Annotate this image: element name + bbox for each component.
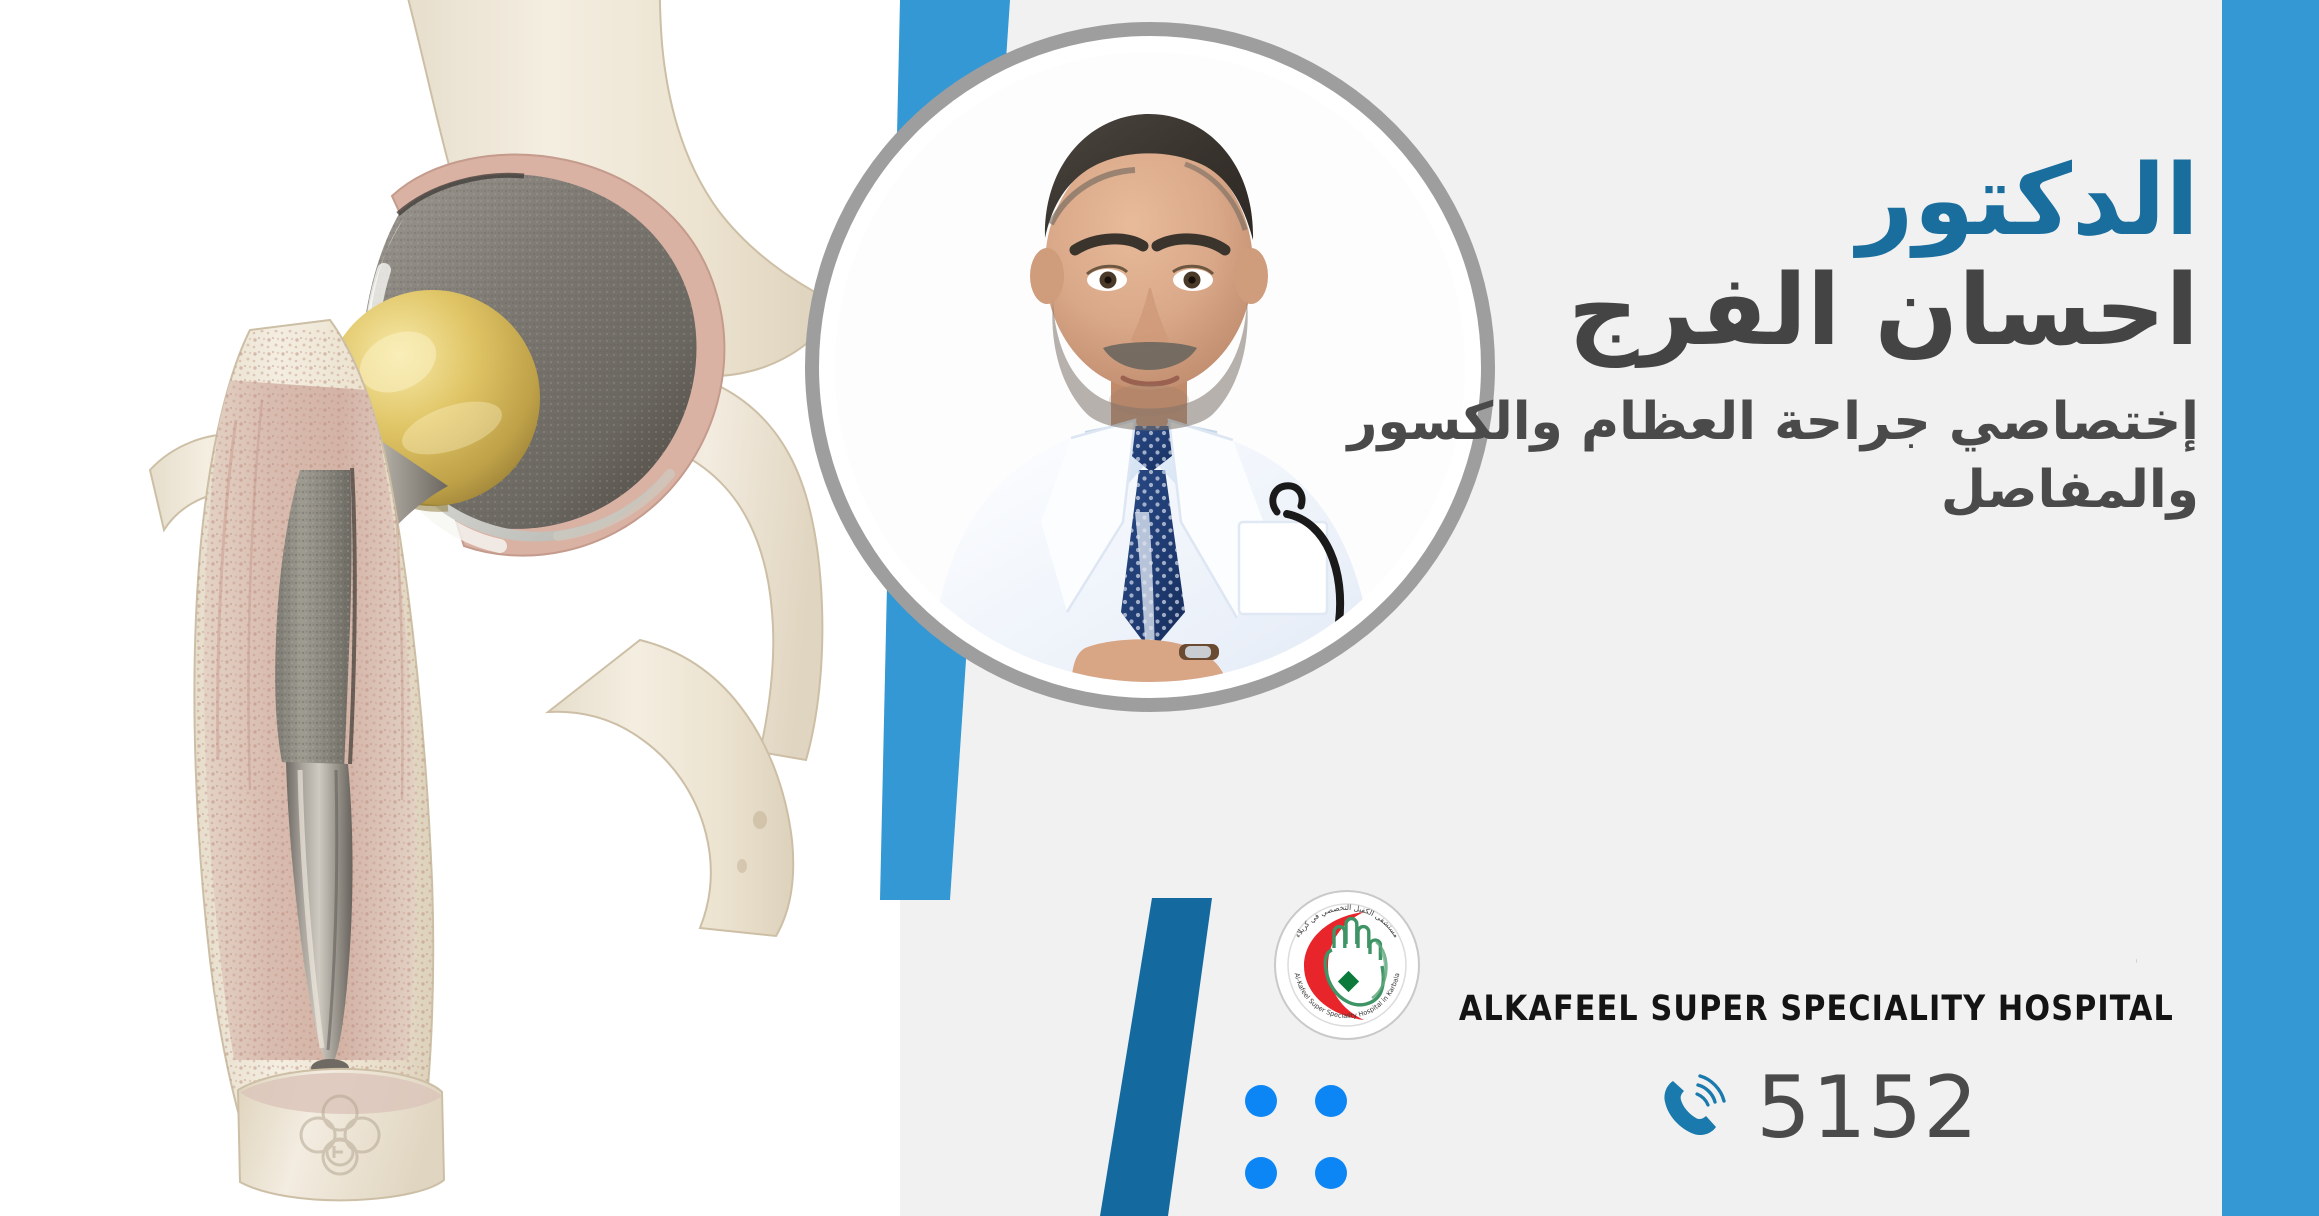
poster-canvas: الدكتور احسان الفرج إختصاصي جراحة العظام… bbox=[0, 0, 2319, 1216]
page-title: الدكتور bbox=[1199, 150, 2199, 253]
phone-number[interactable]: 5152 bbox=[1756, 1065, 1979, 1151]
contact-phone[interactable]: 5152 bbox=[1656, 1065, 1979, 1151]
blue-diagonal-band-bottom bbox=[1100, 898, 1212, 1216]
pelvis-ischium bbox=[548, 640, 793, 936]
hospital-name-arabic: مستشفى الكفيل التخصصي bbox=[2133, 910, 2137, 980]
phone-ringing-icon[interactable] bbox=[1656, 1071, 1730, 1145]
decor-dot bbox=[1245, 1157, 1277, 1189]
doctor-name: احسان الفرج bbox=[1199, 257, 2199, 367]
decor-dot bbox=[1315, 1085, 1347, 1117]
illustration-panel bbox=[0, 0, 900, 1216]
decor-dot bbox=[1315, 1157, 1347, 1189]
decor-dot bbox=[1245, 1085, 1277, 1117]
hospital-name-english: ALKAFEEL SUPER SPECIALITY HOSPITAL bbox=[1459, 989, 2174, 1029]
right-blue-bar bbox=[2222, 0, 2319, 1216]
specialty-line-2: والمفاصل bbox=[1199, 457, 2199, 524]
hospital-name-block: مستشفى الكفيل التخصصي ALKAFEEL SUPER SPE… bbox=[1444, 901, 2189, 1029]
hospital-logo: مستشفى الكفيل التخصصي في كربلاء Al-Kafee… bbox=[1272, 890, 2189, 1040]
headline-block: الدكتور احسان الفرج إختصاصي جراحة العظام… bbox=[1199, 150, 2199, 524]
alkafeel-hospital-emblem-icon: مستشفى الكفيل التخصصي في كربلاء Al-Kafee… bbox=[1272, 890, 1422, 1040]
coat-pocket bbox=[1239, 522, 1327, 614]
hip-implant-illustration bbox=[0, 0, 900, 1216]
specialty-line-1: إختصاصي جراحة العظام والكسور bbox=[1199, 389, 2199, 456]
dot-grid-bottom bbox=[1245, 1085, 1405, 1216]
hospital-name-arabic-calligraphy: مستشفى الكفيل التخصصي bbox=[1497, 901, 2137, 987]
